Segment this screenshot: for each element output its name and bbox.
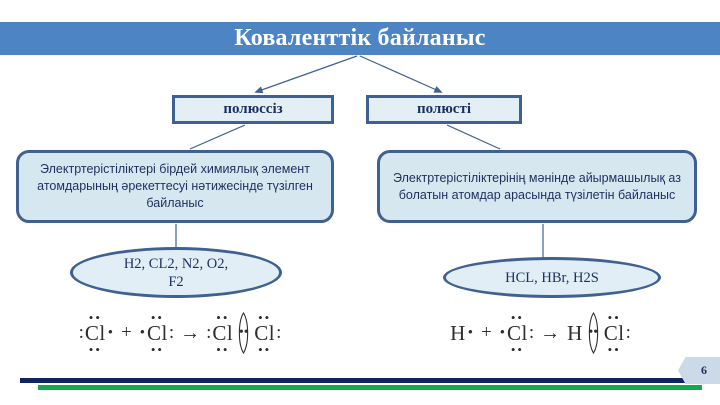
branch-examples-polar-text: HCL, HBr, H2S: [505, 269, 599, 287]
connector-title-to-nonpolar: [256, 56, 357, 92]
slide-canvas: Коваленттік байланыс полюссіз полюсті Эл…: [0, 0, 720, 405]
lewis-atom-symbol: H: [450, 321, 466, 345]
lone-pair-top-icon: ••: [511, 316, 524, 320]
lewis-colon: :: [276, 322, 281, 344]
lone-pair-top-icon: ••: [608, 316, 621, 320]
branch-description-polar: Электртерістіліктерінің мәнінде айырмашы…: [377, 150, 697, 223]
lone-pair-bottom-icon: ••: [89, 348, 102, 352]
branch-label-nonpolar[interactable]: полюссіз: [172, 95, 334, 124]
lewis-colon: :: [626, 322, 631, 344]
unpaired-electron-icon: •: [467, 323, 474, 344]
shared-pair-dots-icon: ••: [588, 328, 598, 338]
lone-pair-top-icon: ••: [216, 316, 229, 320]
lewis-diagram-polar: H • + • •• Cl •• : → H •• •• Cl •• :: [405, 310, 675, 356]
branch-examples-polar: HCL, HBr, H2S: [443, 257, 661, 298]
lone-pair-top-icon: ••: [89, 316, 102, 320]
footer-bar-navy: [20, 378, 702, 383]
unpaired-electron-icon: •: [139, 323, 146, 344]
lewis-product-atom-hydrogen: H: [566, 321, 584, 346]
connector-title-to-polar: [360, 56, 441, 92]
lewis-atom-chlorine-1: •• Cl ••: [506, 321, 529, 346]
page-title: Коваленттік байланыс: [0, 23, 720, 55]
lewis-atom-chlorine-2: •• Cl ••: [146, 321, 169, 346]
lewis-diagram-nonpolar: : •• Cl •• • + • •• Cl •• : → : •• Cl ••…: [40, 310, 320, 356]
lone-pair-bottom-icon: ••: [608, 348, 621, 352]
unpaired-electron-icon: •: [107, 323, 114, 344]
footer-bar-green: [38, 385, 702, 390]
unpaired-electron-icon: •: [499, 323, 506, 344]
lewis-atom-hydrogen-1: H: [449, 321, 467, 346]
reaction-arrow-icon: →: [534, 322, 566, 345]
lewis-product-atom-chlorine-1: •• Cl ••: [211, 321, 234, 346]
lone-pair-bottom-icon: ••: [511, 348, 524, 352]
page-number-badge: 6: [678, 357, 720, 384]
lewis-plus-sign: +: [114, 322, 139, 344]
lewis-atom-chlorine-1: •• Cl ••: [84, 321, 107, 346]
lone-pair-top-icon: ••: [258, 316, 271, 320]
lone-pair-bottom-icon: ••: [151, 348, 164, 352]
lone-pair-bottom-icon: ••: [258, 348, 271, 352]
branch-examples-nonpolar-text: H2, CL2, N2, O2, F2: [124, 255, 228, 291]
lone-pair-top-icon: ••: [151, 316, 164, 320]
lewis-product-atom-chlorine: •• Cl ••: [603, 321, 626, 346]
shared-electron-pair-lens-icon: ••: [235, 312, 252, 354]
lewis-product-atom-chlorine-2: •• Cl ••: [253, 321, 276, 346]
branch-description-nonpolar: Электртерістіліктері бірдей химиялық эле…: [16, 150, 334, 223]
branch-label-polar-text: полюсті: [417, 101, 471, 118]
lewis-atom-symbol: H: [567, 321, 583, 345]
branch-description-nonpolar-text: Электртерістіліктері бірдей химиялық эле…: [27, 161, 323, 212]
branch-description-polar-text: Электртерістіліктерінің мәнінде айырмашы…: [388, 170, 686, 204]
connector-nonpolar-label-to-desc: [190, 125, 245, 149]
branch-examples-nonpolar: H2, CL2, N2, O2, F2: [70, 247, 282, 298]
lewis-plus-sign: +: [474, 322, 499, 344]
shared-pair-dots-icon: ••: [239, 328, 249, 338]
lone-pair-bottom-icon: ••: [216, 348, 229, 352]
connector-polar-label-to-desc: [447, 125, 500, 149]
branch-label-polar[interactable]: полюсті: [366, 95, 522, 124]
shared-electron-pair-lens-icon: ••: [585, 312, 602, 354]
branch-label-nonpolar-text: полюссіз: [223, 101, 282, 118]
reaction-arrow-icon: →: [174, 322, 206, 345]
